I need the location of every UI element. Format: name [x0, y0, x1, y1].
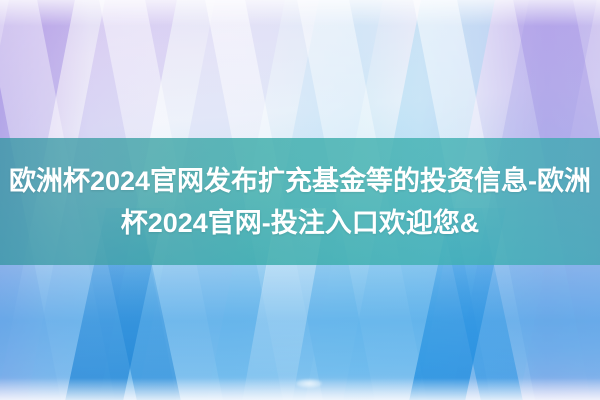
- watermark-speck: [296, 379, 322, 388]
- banner-headline: 欧洲杯2024官网发布扩充基金等的投资信息-欧洲杯2024官网-投注入口欢迎您&: [0, 160, 600, 244]
- top-fade: [0, 0, 600, 26]
- promo-banner: 欧洲杯2024官网发布扩充基金等的投资信息-欧洲杯2024官网-投注入口欢迎您&: [0, 0, 600, 400]
- headline-band: 欧洲杯2024官网发布扩充基金等的投资信息-欧洲杯2024官网-投注入口欢迎您&: [0, 138, 600, 265]
- bottom-fade: [0, 378, 600, 400]
